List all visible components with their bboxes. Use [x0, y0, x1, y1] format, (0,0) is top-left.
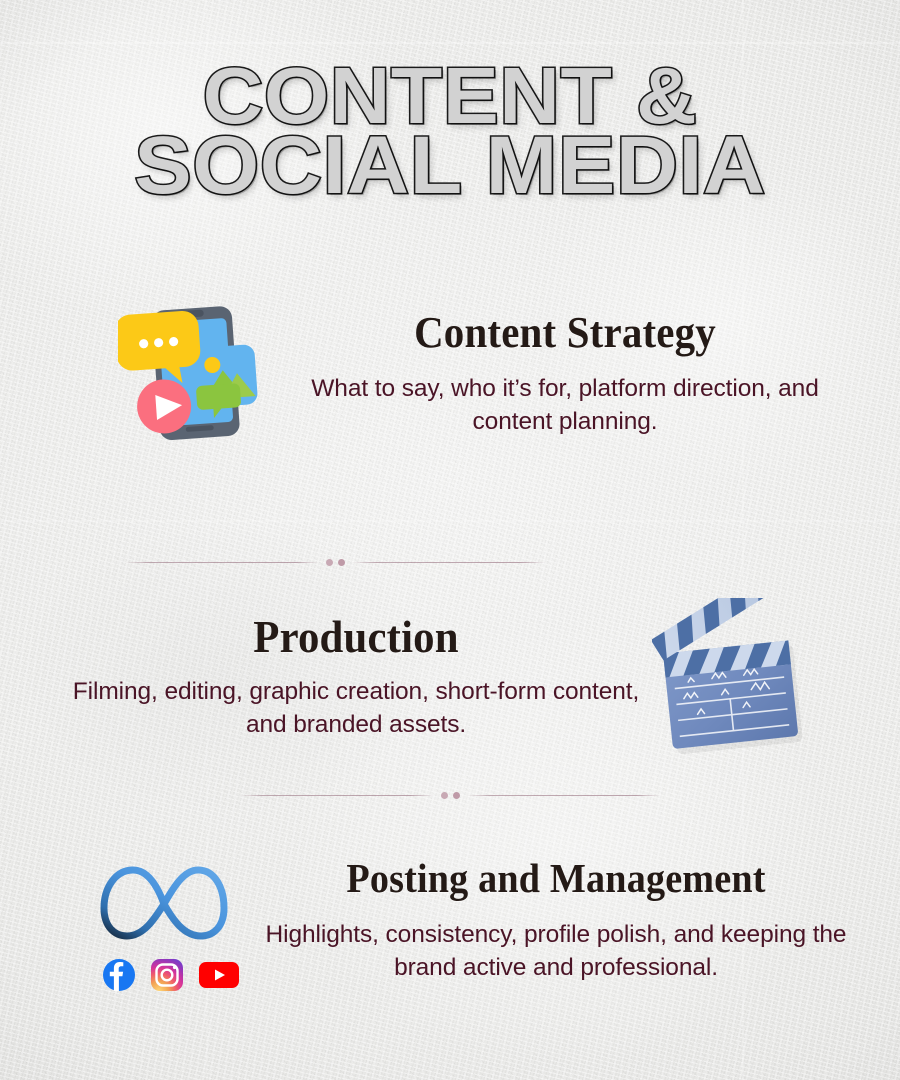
title-line-2: SOCIAL MEDIA	[0, 127, 900, 206]
section-2-body: Filming, editing, graphic creation, shor…	[60, 676, 652, 742]
divider-one	[125, 553, 545, 571]
section-posting-and-management: Posting and Management Highlights, consi…	[0, 858, 900, 992]
section-2-text: Production Filming, editing, graphic cre…	[0, 614, 652, 742]
facebook-icon[interactable]	[102, 958, 136, 992]
divider-dot	[338, 559, 345, 566]
divider-one-dots	[319, 559, 352, 566]
section-1-heading: Content Strategy	[298, 311, 832, 355]
divider-dot	[453, 792, 460, 799]
section-1-body: What to say, who it’s for, platform dire…	[278, 373, 852, 439]
section-2-heading: Production	[81, 614, 632, 660]
divider-two-rule-left	[240, 795, 434, 796]
section-content-strategy: Content Strategy What to say, who it’s f…	[0, 300, 900, 450]
divider-dot	[326, 559, 333, 566]
clapperboard-icon	[652, 598, 822, 758]
meta-infinity-icon	[98, 864, 248, 942]
section-production: Production Filming, editing, graphic cre…	[0, 598, 900, 758]
divider-one-rule-left	[125, 562, 319, 563]
section-3-icons	[98, 858, 248, 992]
divider-dot	[441, 792, 448, 799]
poster-page: CONTENT & SOCIAL MEDIA	[0, 0, 900, 1080]
section-1-text: Content Strategy What to say, who it’s f…	[278, 311, 900, 439]
section-3-body: Highlights, consistency, profile polish,…	[252, 919, 860, 985]
divider-two	[240, 786, 660, 804]
section-3-heading: Posting and Management	[273, 858, 838, 899]
section-3-text: Posting and Management Highlights, consi…	[248, 858, 900, 985]
divider-one-rule-right	[352, 562, 546, 563]
divider-two-rule-right	[467, 795, 661, 796]
phone-social-content-icon	[118, 300, 278, 450]
youtube-icon[interactable]	[198, 958, 240, 992]
poster-title: CONTENT & SOCIAL MEDIA	[0, 58, 900, 206]
divider-two-dots	[434, 792, 467, 799]
instagram-icon[interactable]	[150, 958, 184, 992]
social-icon-row	[102, 958, 248, 992]
